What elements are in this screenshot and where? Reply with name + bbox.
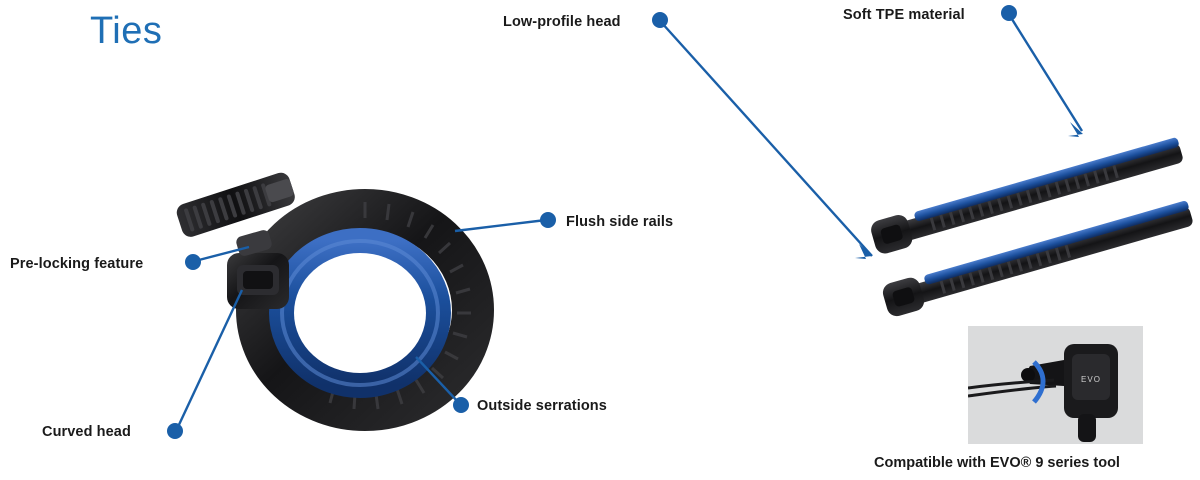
callout-label-outside-serrations: Outside serrations <box>477 398 607 414</box>
evo-tool-photo: EVO <box>968 326 1143 444</box>
straight-ties-photo <box>860 110 1200 325</box>
tool-caption: Compatible with EVO® 9 series tool <box>874 455 1120 471</box>
diagram-canvas: EVO <box>0 0 1200 480</box>
callout-label-low-profile-head: Low-profile head <box>503 14 621 30</box>
dot-soft-tpe-material <box>1001 5 1017 21</box>
callout-label-pre-locking-feature: Pre-locking feature <box>10 256 143 272</box>
callout-label-flush-side-rails: Flush side rails <box>566 214 673 230</box>
leader-low-profile-head <box>661 22 872 256</box>
cable-tie-loop-illustration <box>175 155 505 435</box>
evo-tool-illustration: EVO <box>968 326 1143 444</box>
callout-label-curved-head: Curved head <box>42 424 131 440</box>
dot-flush-side-rails <box>540 212 556 228</box>
dot-low-profile-head <box>652 12 668 28</box>
svg-text:EVO: EVO <box>1081 375 1101 384</box>
page-title: Ties <box>90 10 162 53</box>
callout-label-soft-tpe-material: Soft TPE material <box>843 7 965 23</box>
straight-ties-illustration <box>860 110 1200 325</box>
cable-tie-loop-photo <box>175 155 505 435</box>
